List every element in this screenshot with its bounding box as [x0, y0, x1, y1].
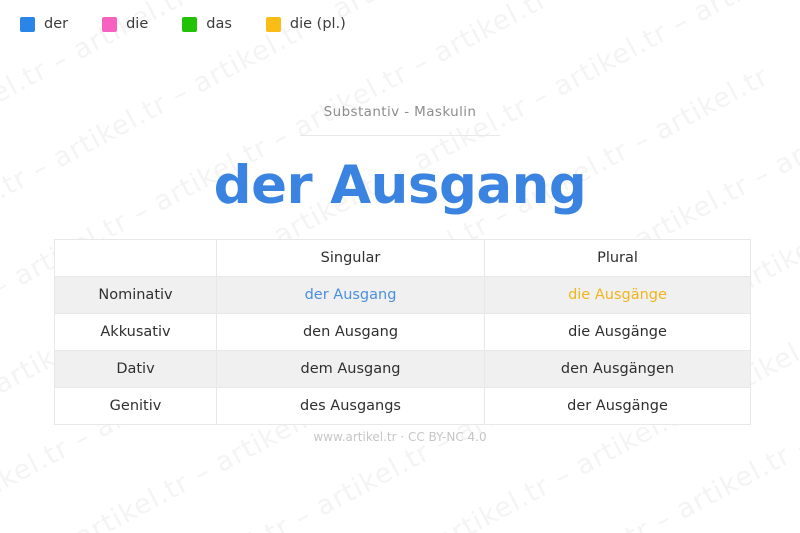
- column-header-singular: Singular: [217, 240, 485, 277]
- color-swatch-icon: [20, 17, 35, 32]
- case-label-cell: Genitiv: [55, 388, 217, 425]
- column-header-case: [55, 240, 217, 277]
- legend-item-label: das: [206, 17, 232, 32]
- singular-form-cell: dem Ausgang: [217, 351, 485, 388]
- header-divider: [300, 135, 500, 136]
- color-swatch-icon: [266, 17, 281, 32]
- footer-credit: www.artikel.tr · CC BY-NC 4.0: [0, 430, 800, 444]
- legend-item-das: das: [182, 17, 232, 32]
- legend-item-label: der: [44, 17, 68, 32]
- column-header-plural: Plural: [485, 240, 751, 277]
- color-swatch-icon: [182, 17, 197, 32]
- singular-form-cell: den Ausgang: [217, 314, 485, 351]
- legend-item-der: der: [20, 17, 68, 32]
- legend-item-die: die: [102, 17, 148, 32]
- article-color-legend: derdiedasdie (pl.): [20, 17, 380, 32]
- declension-card: artikel.tr – artikel.tr – artikel.tr – a…: [0, 0, 800, 533]
- legend-item-label: die (pl.): [290, 17, 346, 32]
- page-title: der Ausgang: [0, 156, 800, 215]
- singular-form-cell: der Ausgang: [217, 277, 485, 314]
- table-row: Dativdem Ausgangden Ausgängen: [55, 351, 751, 388]
- table-row: Nominativder Ausgangdie Ausgänge: [55, 277, 751, 314]
- plural-form-cell: den Ausgängen: [485, 351, 751, 388]
- table-row: Akkusativden Ausgangdie Ausgänge: [55, 314, 751, 351]
- singular-form-cell: des Ausgangs: [217, 388, 485, 425]
- declension-table: Singular Plural Nominativder Ausgangdie …: [54, 239, 751, 425]
- legend-item-diepl: die (pl.): [266, 17, 346, 32]
- table-header: Singular Plural: [55, 240, 751, 277]
- table-body: Nominativder Ausgangdie AusgängeAkkusati…: [55, 277, 751, 425]
- table-header-row: Singular Plural: [55, 240, 751, 277]
- plural-form-cell: der Ausgänge: [485, 388, 751, 425]
- legend-item-label: die: [126, 17, 148, 32]
- plural-form-cell: die Ausgänge: [485, 314, 751, 351]
- table-row: Genitivdes Ausgangsder Ausgänge: [55, 388, 751, 425]
- case-label-cell: Nominativ: [55, 277, 217, 314]
- word-header: Substantiv - Maskulin der Ausgang: [0, 104, 800, 215]
- color-swatch-icon: [102, 17, 117, 32]
- plural-form-cell: die Ausgänge: [485, 277, 751, 314]
- case-label-cell: Akkusativ: [55, 314, 217, 351]
- case-label-cell: Dativ: [55, 351, 217, 388]
- word-type-subtitle: Substantiv - Maskulin: [0, 104, 800, 120]
